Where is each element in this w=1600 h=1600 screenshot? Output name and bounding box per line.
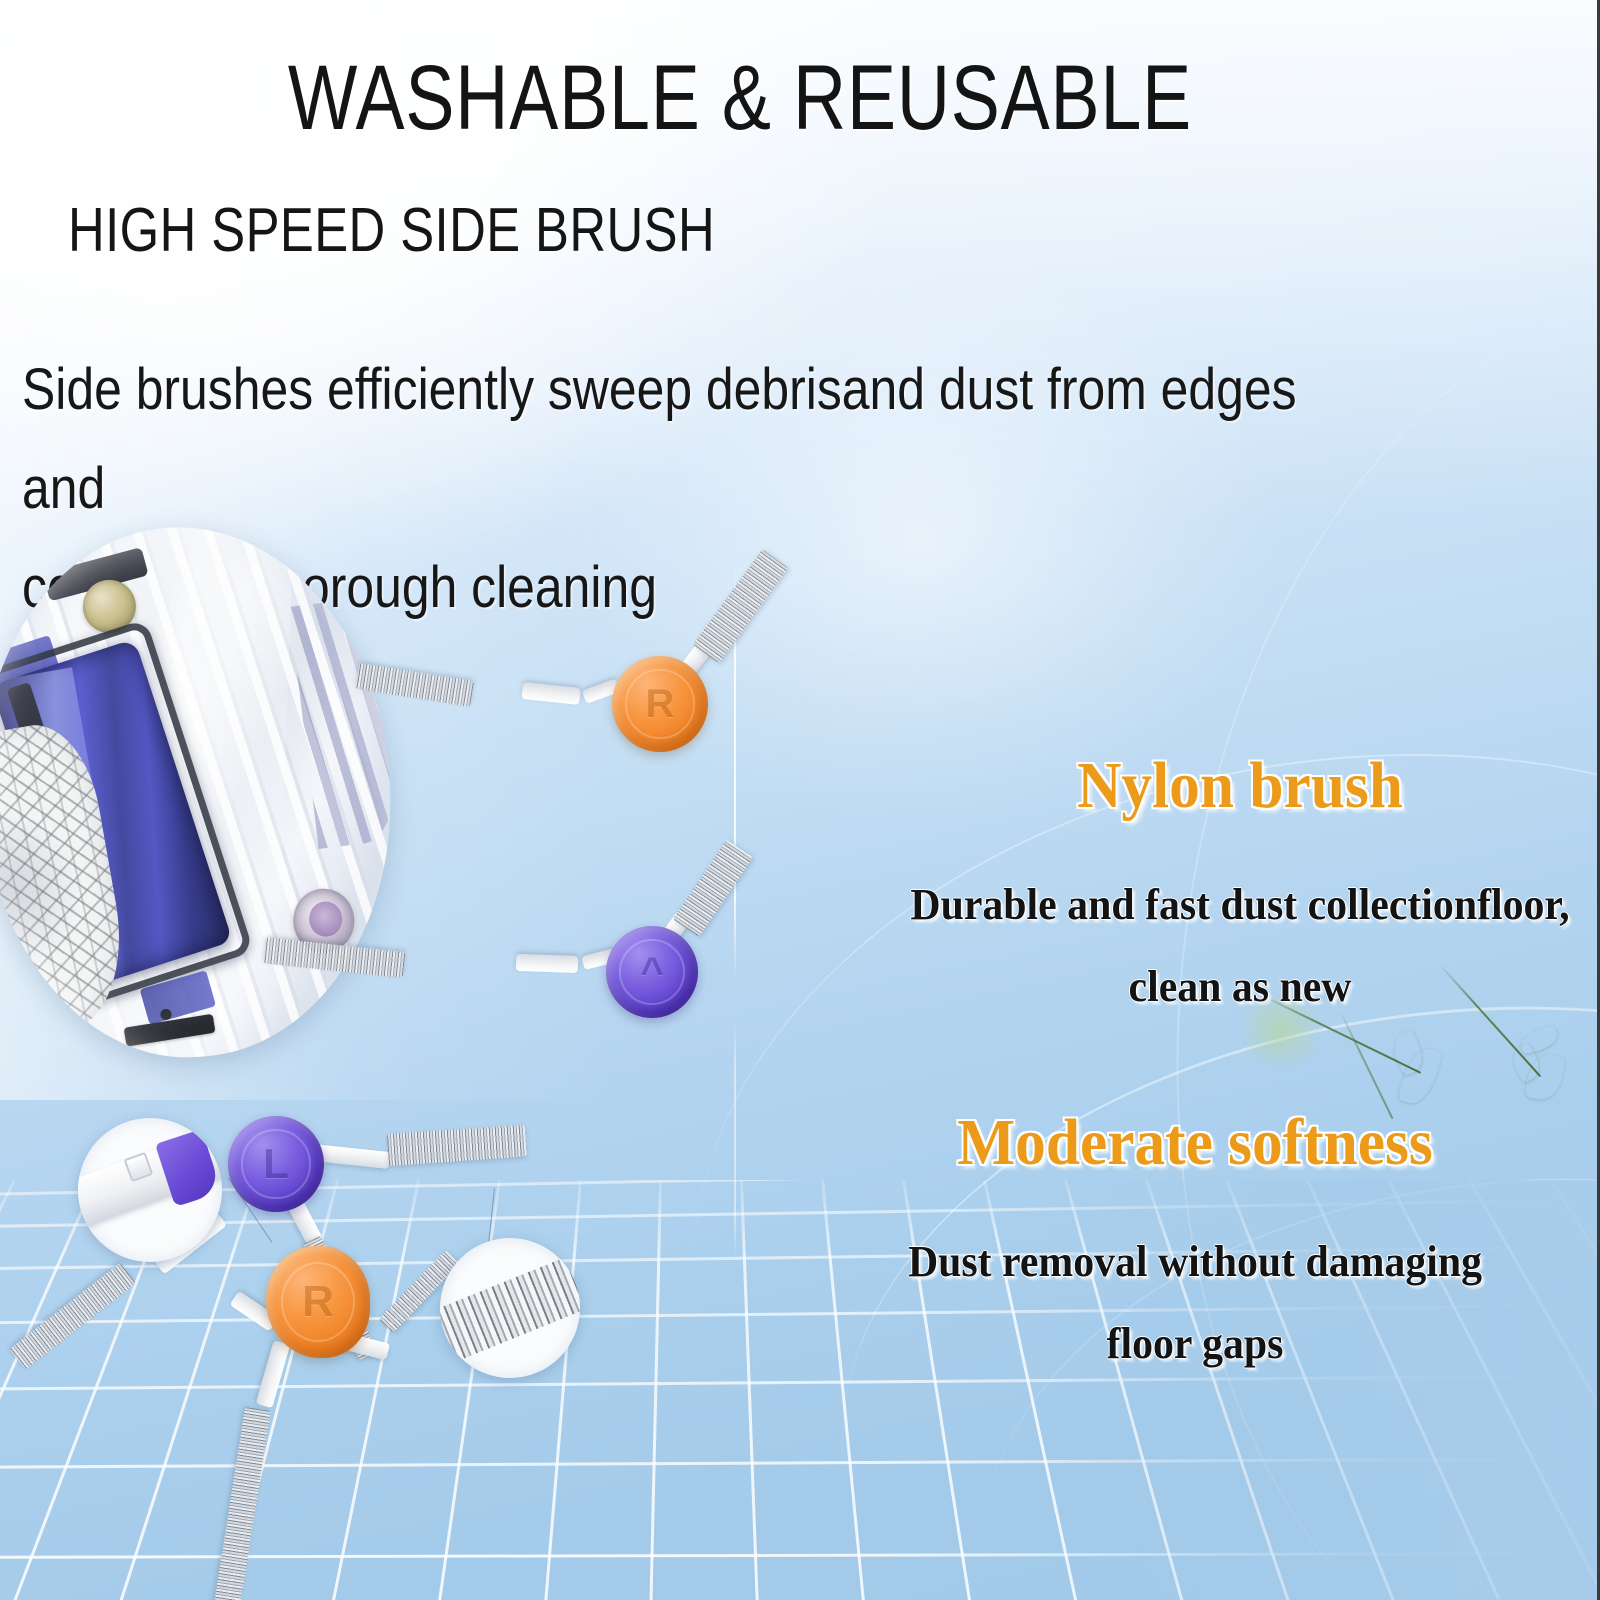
feature-heading-nylon-brush: Nylon brush xyxy=(905,748,1575,824)
brush-arm xyxy=(256,1340,291,1408)
feature-body-line-1: Dust removal without damaging xyxy=(810,1221,1580,1303)
feature-body-line-1: Durable and fast dust collectionfloor, xyxy=(898,864,1582,946)
hub-marking-chevron-icon: ^ xyxy=(640,952,663,992)
brush-hub-orange-bottom: R xyxy=(266,1246,370,1358)
brush-bristle-tuft xyxy=(693,549,788,663)
description-line-1: Side brushes efficiently sweep debrisand… xyxy=(22,340,1346,538)
callout-clip-detail xyxy=(78,1118,222,1262)
robot-vacuum-underside xyxy=(0,513,408,1070)
hub-marking-r-icon: R xyxy=(646,684,675,724)
side-brush-orange-top: R xyxy=(470,560,800,770)
page-title: WASHABLE & REUSABLE xyxy=(148,46,1332,151)
feature-body-line-2: clean as new xyxy=(898,946,1582,1028)
feature-block-moderate-softness: Moderate softness Dust removal without d… xyxy=(790,1105,1600,1385)
callout-fiber-strands xyxy=(440,1248,580,1368)
feature-block-nylon-brush: Nylon brush Durable and fast dust collec… xyxy=(880,748,1600,1028)
brush-bristle-tuft xyxy=(387,1124,527,1166)
feature-heading-moderate-softness: Moderate softness xyxy=(818,1105,1571,1181)
side-brush-purple-mid: ^ xyxy=(390,820,730,1020)
product-feature-page: WASHABLE & REUSABLE HIGH SPEED SIDE BRUS… xyxy=(0,0,1600,1600)
callout-fiber-detail xyxy=(440,1238,580,1378)
feature-body-moderate-softness: Dust removal without damaging floor gaps xyxy=(810,1221,1580,1385)
page-subtitle: HIGH SPEED SIDE BRUSH xyxy=(68,195,715,266)
robot-sensor-dot xyxy=(160,1009,171,1020)
robot-vacuum-image xyxy=(0,527,390,1057)
brush-arm xyxy=(521,682,580,705)
hub-marking-l-icon: L xyxy=(263,1143,289,1185)
brush-hub-orange: R xyxy=(612,656,708,752)
feature-body-nylon-brush: Durable and fast dust collectionfloor, c… xyxy=(898,864,1582,1028)
brush-hub-purple: ^ xyxy=(606,926,698,1018)
feature-body-line-2: floor gaps xyxy=(810,1303,1580,1385)
brush-arm xyxy=(516,954,579,973)
hub-marking-r-icon: R xyxy=(302,1280,334,1324)
